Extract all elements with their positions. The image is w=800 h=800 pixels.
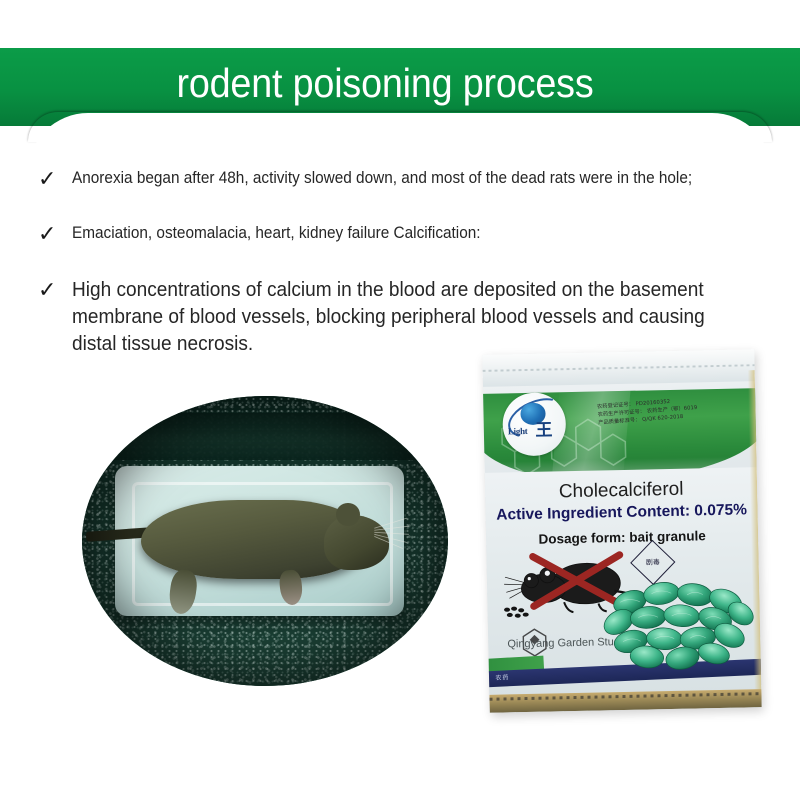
logo-brand-latin: Light [508, 426, 528, 437]
rat-whiskers [367, 512, 418, 553]
list-item-text: High concentrations of calcium in the bl… [72, 276, 725, 357]
list-item: ✓ High concentrations of calcium in the … [34, 276, 774, 357]
list-item: ✓ Anorexia began after 48h, activity slo… [34, 166, 774, 193]
rat-droppings-icon [502, 603, 538, 622]
list-item-text: Emaciation, osteomalacia, heart, kidney … [72, 221, 725, 245]
page-title: rodent poisoning process [31, 52, 739, 114]
package-body: Light 王 农药登记证号： PD20160352 农药生产许可证号： 农药生… [482, 349, 761, 713]
list-item: ✓ Emaciation, osteomalacia, heart, kidne… [34, 221, 774, 248]
check-icon: ✓ [34, 166, 72, 193]
check-icon: ✓ [34, 276, 72, 304]
package-strip-label: 农药 [495, 673, 509, 683]
logo-brand-cjk: 王 [535, 421, 552, 440]
product-package: Light 王 农药登记证号： PD20160352 农药生产许可证号： 农药生… [482, 349, 761, 713]
package-top-seal [482, 349, 755, 387]
bait-granules-image [595, 560, 755, 685]
package-top-crimp [483, 364, 755, 372]
bullet-list: ✓ Anorexia began after 48h, activity slo… [34, 166, 774, 357]
check-icon: ✓ [34, 221, 72, 248]
list-item-text: Anorexia began after 48h, activity slowe… [72, 166, 725, 190]
package-bottom-crimp [489, 692, 761, 701]
dead-rat-photo [82, 396, 448, 686]
